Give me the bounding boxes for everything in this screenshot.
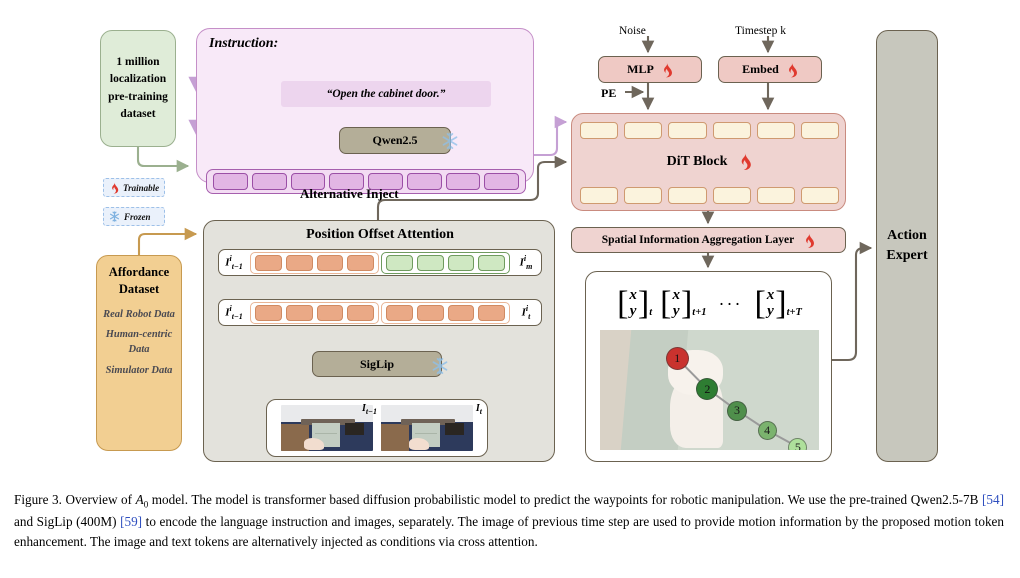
dit-token-row-bottom — [580, 187, 839, 204]
caption-text-1: Overview of — [65, 492, 135, 507]
embed-label: Embed — [742, 62, 779, 77]
input-image-pair: It−1 It — [266, 399, 488, 457]
token-cell — [317, 305, 344, 321]
figure-canvas: 1 million localization pre-training data… — [0, 0, 1020, 578]
instruction-text: “Open the cabinet door.” — [281, 81, 491, 107]
timestep-subscript: t+T — [787, 307, 802, 320]
token-cell — [448, 255, 475, 271]
snowflake-icon — [441, 132, 459, 150]
token-group-prev-frame — [250, 302, 379, 324]
dit-token-cell — [624, 187, 662, 204]
text-token-cell — [446, 173, 481, 190]
image-previous-frame — [281, 405, 373, 451]
action-expert-label: Action Expert — [877, 226, 937, 265]
token-row1-left-label: Iit−1 — [219, 254, 249, 271]
snowflake-icon — [109, 211, 120, 222]
text-token-cell — [252, 173, 287, 190]
instruction-panel: Instruction: “Open the cabinet door.” Qw… — [196, 28, 534, 183]
flame-icon — [802, 232, 815, 249]
coordinate-vector: [xy]t+T — [754, 288, 801, 320]
flame-icon — [109, 182, 119, 194]
motion-token-row: Iit−1 Iim — [218, 249, 542, 276]
localization-dataset-box: 1 million localization pre-training data… — [100, 30, 176, 147]
qwen-encoder-label: Qwen2.5 — [373, 133, 418, 148]
affordance-item-simulator: Simulator Data — [101, 364, 177, 379]
affordance-item-real-robot: Real Robot Data — [101, 308, 177, 323]
token-row2-right-label: Iit — [511, 304, 541, 321]
bracket-right: ] — [638, 290, 649, 317]
bracket-left: [ — [754, 290, 765, 317]
caption-text-4: to encode the language instruction and i… — [14, 514, 1004, 549]
dit-token-cell — [713, 187, 751, 204]
text-token-cell — [484, 173, 519, 190]
dit-token-cell — [801, 122, 839, 139]
position-offset-attention-panel: Position Offset Attention Iit−1 Iim — [203, 220, 555, 462]
bracket-right: ] — [681, 290, 692, 317]
affordance-dataset-box: Affordance Dataset Real Robot Data Human… — [96, 255, 182, 451]
caption-text-3: and SigLip (400M) — [14, 514, 120, 529]
dit-token-cell — [757, 187, 795, 204]
dit-block-label: DiT Block — [667, 154, 728, 170]
token-group-current-frame — [381, 302, 510, 324]
coordinate-vector: [xy]t+1 — [660, 288, 706, 320]
token-row1-right-label: Iim — [511, 254, 541, 271]
text-token-cell — [407, 173, 442, 190]
token-cell — [255, 255, 282, 271]
token-cell — [255, 305, 282, 321]
mlp-box: MLP — [598, 56, 702, 83]
snowflake-icon — [431, 357, 449, 375]
instruction-panel-title: Instruction: — [209, 36, 278, 52]
token-group-motion — [381, 252, 510, 274]
dit-token-cell — [668, 122, 706, 139]
token-cell — [386, 255, 413, 271]
figure-number: Figure 3. — [14, 492, 62, 507]
dit-block: DiT Block — [571, 113, 846, 211]
legend-frozen: Frozen — [103, 207, 165, 226]
dit-block-title-wrap: DiT Block — [572, 152, 847, 171]
xy-pair: xy — [628, 288, 638, 320]
token-group-prev-frame — [250, 252, 379, 274]
action-expert-box: Action Expert — [876, 30, 938, 462]
citation-59[interactable]: [59] — [120, 514, 142, 529]
timestep-input-label: Timestep k — [735, 25, 786, 37]
affordance-dataset-items: Real Robot Data Human-centric Data Simul… — [101, 308, 177, 387]
flame-icon — [660, 62, 673, 78]
text-token-cell — [213, 173, 248, 190]
bracket-right: ] — [775, 290, 786, 317]
image-prev-label: It−1 — [362, 403, 377, 416]
affordance-dataset-title: Affordance Dataset — [101, 264, 177, 298]
coordinate-vector: [xy]t — [617, 288, 652, 320]
token-cell — [286, 305, 313, 321]
dit-token-cell — [580, 122, 618, 139]
dit-token-row-top — [580, 122, 839, 139]
xy-pair: xy — [671, 288, 681, 320]
dit-token-cell — [580, 187, 618, 204]
siglip-encoder-label: SigLip — [360, 357, 394, 372]
legend-trainable: Trainable — [103, 178, 165, 197]
image-cur-label: It — [476, 403, 482, 416]
dit-token-cell — [624, 122, 662, 139]
siglip-encoder-box: SigLip — [312, 351, 442, 377]
token-cell — [478, 255, 505, 271]
waypoint-marker-1: 1 — [666, 347, 689, 370]
mlp-label: MLP — [627, 62, 654, 77]
coordinate-sequence: [xy]t[xy]t+1···[xy]t+T — [586, 280, 833, 328]
xy-pair: xy — [766, 288, 776, 320]
bracket-left: [ — [660, 290, 671, 317]
model-name: A — [136, 492, 144, 507]
flame-icon — [785, 62, 798, 78]
dit-token-cell — [801, 187, 839, 204]
token-cell — [347, 255, 374, 271]
legend-trainable-label: Trainable — [123, 183, 159, 193]
timestep-subscript: t — [649, 307, 652, 320]
token-cell — [417, 305, 444, 321]
image-current-frame — [381, 405, 473, 451]
dit-token-cell — [713, 122, 751, 139]
token-row2-left-label: Iit−1 — [219, 304, 249, 321]
dit-token-cell — [668, 187, 706, 204]
waypoint-marker-4: 4 — [758, 421, 777, 440]
waypoint-marker-3: 3 — [727, 401, 747, 421]
token-cell — [286, 255, 313, 271]
figure-caption: Figure 3. Overview of A0 model. The mode… — [14, 490, 1004, 552]
alternative-inject-label: Alternative Inject — [300, 186, 399, 202]
token-cell — [317, 255, 344, 271]
qwen-encoder-box: Qwen2.5 — [339, 127, 451, 154]
spatial-aggregation-label: Spatial Information Aggregation Layer — [602, 234, 794, 246]
token-cell — [478, 305, 505, 321]
timestep-subscript: t+1 — [692, 307, 706, 320]
legend-frozen-label: Frozen — [124, 212, 151, 222]
noise-input-label: Noise — [619, 25, 646, 37]
waypoint-output-panel: [xy]t[xy]t+1···[xy]t+T 12345 — [585, 271, 832, 462]
citation-54[interactable]: [54] — [982, 492, 1004, 507]
positional-encoding-label: PE — [601, 86, 616, 101]
localization-dataset-label: 1 million localization pre-training data… — [105, 54, 171, 123]
waypoint-visualization-image: 12345 — [600, 330, 819, 450]
image-token-row: Iit−1 Iit — [218, 299, 542, 326]
token-cell — [448, 305, 475, 321]
spatial-aggregation-layer: Spatial Information Aggregation Layer — [571, 227, 846, 253]
bracket-left: [ — [617, 290, 628, 317]
dit-token-cell — [757, 122, 795, 139]
caption-text-2: model. The model is transformer based di… — [148, 492, 982, 507]
position-offset-attention-title: Position Offset Attention — [204, 227, 556, 243]
token-cell — [347, 305, 374, 321]
embed-box: Embed — [718, 56, 822, 83]
flame-icon — [737, 152, 752, 171]
token-cell — [386, 305, 413, 321]
coordinate-ellipsis: ··· — [714, 294, 746, 315]
token-cell — [417, 255, 444, 271]
affordance-item-human-centric: Human-centric Data — [101, 328, 177, 357]
